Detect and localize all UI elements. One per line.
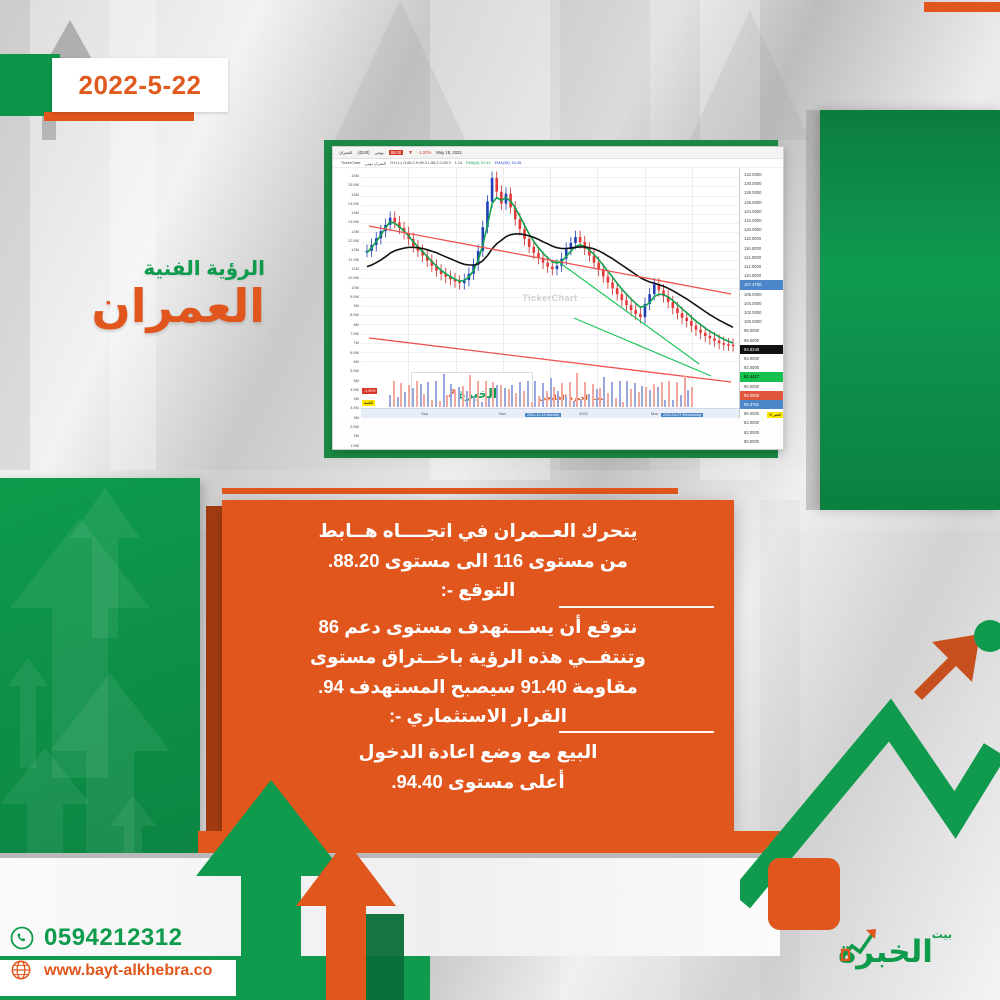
volume-bar — [687, 390, 689, 407]
volume-bar — [454, 390, 456, 407]
price-axis-label: 122.0000 — [740, 216, 783, 225]
chart-source: TickerChart — [341, 161, 360, 165]
candle-body — [491, 178, 494, 202]
volume-bar — [481, 402, 483, 407]
volume-axis-label: 6M — [353, 357, 359, 366]
price-axis-label: 102.0000 — [740, 308, 783, 317]
volume-bar — [557, 391, 559, 407]
volume-axis-label: 13.5M — [348, 217, 359, 226]
date-tick: Mar — [651, 411, 658, 416]
volume-axis-label: 1.5M — [350, 441, 359, 450]
volume-bar — [607, 393, 609, 407]
volume-bar — [584, 382, 586, 407]
volume-axis-label: 15M — [351, 190, 359, 199]
candle-body — [625, 300, 628, 305]
volume-bar — [615, 398, 617, 407]
brand-growth-icon — [840, 926, 880, 967]
volume-bar — [400, 383, 402, 407]
candle-body — [519, 219, 522, 229]
decor-big-orange-arrow — [296, 840, 396, 1000]
downtrend-line-bottom — [574, 318, 711, 376]
volume-bar — [649, 390, 651, 407]
decision-heading: القرار الاستثماري -: — [242, 702, 714, 730]
candle-body — [528, 239, 531, 247]
volume-axis-label: 2M — [353, 431, 359, 440]
candle-body — [607, 276, 610, 282]
price-axis-label: 107.4700 — [740, 280, 783, 289]
forecast-heading: التوقع -: — [242, 576, 714, 604]
chart-timeframe: يومي — [375, 150, 384, 155]
candle-body — [699, 330, 702, 333]
volume-axis-label: 15.5M — [348, 180, 359, 189]
volume-bar — [519, 382, 521, 407]
volume-axis-label: 10.5M — [348, 273, 359, 282]
candle-body — [722, 343, 725, 345]
candle-body — [676, 308, 679, 313]
price-axis-label: 128.0000 — [740, 188, 783, 197]
chart-date-strip: Sep Nov 2022 Mar 2021-12-13 Monday 2022-… — [361, 408, 739, 418]
volume-bar — [553, 387, 555, 407]
volume-bar — [626, 381, 628, 407]
volume-bar — [450, 384, 452, 407]
volume-bar — [653, 384, 655, 407]
volume-bar — [389, 395, 391, 407]
price-axis-label: 120.0000 — [740, 225, 783, 234]
volume-bar — [676, 382, 678, 407]
volume-axis-label: 13M — [351, 227, 359, 236]
volume-axis-label: 5.5M — [350, 366, 359, 375]
volume-bar — [638, 392, 640, 407]
volume-bar — [473, 397, 475, 407]
price-axis-label: 126.0000 — [740, 198, 783, 207]
brand-logo: الخبرة بيت — [838, 916, 988, 986]
chart-plot-wrapper: 16M15.5M15M14.5M14M13.5M13M12.5M12M11.5M… — [333, 168, 783, 418]
candle-body — [532, 247, 535, 253]
volume-bar — [527, 381, 529, 407]
decision-separator — [559, 731, 714, 733]
volume-bar — [492, 382, 494, 407]
volume-bar — [672, 400, 674, 407]
volume-bar — [523, 391, 525, 407]
volume-axis-label: 3M — [353, 413, 359, 422]
phone-number: 0594212312 — [44, 924, 182, 952]
volume-bar — [573, 401, 575, 407]
volume-bar — [611, 382, 613, 407]
price-axis-label: 82.0000 — [740, 428, 783, 437]
volume-axis-label: 2.5M — [350, 422, 359, 431]
volume-axis-label: 6.5M — [350, 348, 359, 357]
headline-block: الرؤية الفنية العمران — [65, 258, 265, 330]
volume-bar — [462, 386, 464, 407]
volume-bar — [680, 395, 682, 407]
volume-bar — [664, 400, 666, 407]
candle-body — [685, 318, 688, 321]
chart-extra: 1.14 — [455, 161, 462, 165]
volume-bar — [603, 377, 605, 407]
volume-bar — [619, 381, 621, 407]
volume-bar — [485, 381, 487, 407]
volume-bar — [645, 387, 647, 407]
volume-bar — [634, 383, 636, 407]
candle-body — [500, 192, 503, 204]
volume-bar — [550, 378, 552, 407]
chart-change-pct: -1.00% — [418, 150, 431, 155]
volume-bar — [420, 384, 422, 407]
volume-bar — [404, 392, 406, 407]
volume-bar — [542, 383, 544, 407]
volume-axis-label: 8M — [353, 320, 359, 329]
volume-axis-label: 5M — [353, 376, 359, 385]
volume-axis-label: 14.5M — [348, 199, 359, 208]
chart-price-axis: 132.0000130.0000128.0000126.0000124.0000… — [739, 168, 783, 418]
volume-bar — [508, 389, 510, 407]
volume-bar — [423, 394, 425, 407]
volume-axis-label: 10M — [351, 283, 359, 292]
price-axis-label: 124.0000 — [740, 207, 783, 216]
volume-bar — [534, 381, 536, 407]
website-url: www.bayt-alkhebra.co — [44, 962, 212, 980]
chart-date: May 18, 2022 — [436, 150, 461, 155]
volume-bar — [408, 385, 410, 407]
date-tick: Nov — [499, 411, 506, 416]
candle-body — [634, 310, 637, 314]
decor-arrow — [70, 488, 140, 638]
forecast-separator — [559, 606, 714, 608]
volume-bar — [538, 396, 540, 407]
volume-bar — [668, 381, 670, 407]
panel-top-rule — [222, 488, 678, 494]
price-axis-label: 89.0000 — [740, 391, 783, 400]
candle-body — [393, 218, 396, 223]
volume-axis-label: 4M — [353, 394, 359, 403]
price-axis-label: 88.3751 — [740, 400, 783, 409]
price-axis-label: 104.0000 — [740, 299, 783, 308]
candle-body — [621, 294, 624, 300]
forecast-line-3: مقاومة 91.40 سيصبح المستهدف 94. — [242, 672, 714, 702]
candle-body — [732, 345, 735, 347]
price-axis-label: 110.0000 — [740, 271, 783, 280]
candle-body — [593, 256, 596, 263]
chart-screenshot: العمران (4240) يومي 88.00 ▼ -1.00% May 1… — [332, 146, 784, 450]
chart-ema-green: EMA(5): 91.44 — [466, 161, 490, 165]
candle-body — [556, 266, 559, 269]
volume-bar — [565, 396, 567, 407]
volume-bar — [500, 385, 502, 407]
orange-arrow-head — [914, 634, 980, 700]
forecast-line-2: وتنتفــي هذه الرؤية باخــتراق مستوى — [242, 642, 714, 672]
trend-dot — [974, 620, 1000, 652]
candle-body — [713, 338, 716, 340]
volume-axis-label: 11M — [352, 264, 359, 273]
volume-bar — [641, 386, 643, 407]
candle-body — [709, 336, 712, 338]
volume-axis-label: 3.5M — [350, 403, 359, 412]
candle-body — [546, 263, 549, 267]
volume-bar — [466, 391, 468, 407]
volume-bar — [393, 381, 395, 407]
analysis-line-2: من مستوى 116 الى مستوى 88.20. — [242, 546, 714, 576]
date-chip: 2021-12-13 Monday — [525, 413, 561, 417]
volume-bar — [576, 373, 578, 407]
bg-triangle — [690, 10, 810, 140]
volume-bar — [477, 381, 479, 407]
decor-grey-strip — [806, 110, 820, 510]
volume-axis-label: 12.5M — [348, 236, 359, 245]
bg-triangle — [330, 0, 470, 150]
volume-bar — [511, 385, 513, 407]
price-axis-label: 96.0000 — [740, 336, 783, 345]
price-axis-label: 106.0000 — [740, 290, 783, 299]
volume-bar — [569, 382, 571, 408]
change-chip: -1.00% — [362, 388, 377, 394]
candle-body — [495, 178, 498, 192]
change-pct-chip: التغير % — [767, 412, 783, 418]
decision-line-1: البيع مع وضع اعادة الدخول — [242, 737, 714, 767]
quantity-chip: الكمية — [362, 400, 375, 406]
date-tick: Sep — [421, 411, 428, 416]
price-axis-label: 91.4417 — [740, 372, 783, 381]
decor-green-panel — [820, 110, 1000, 510]
price-axis-label: 98.0000 — [740, 326, 783, 335]
volume-bar — [416, 381, 418, 407]
volume-bar — [580, 399, 582, 407]
price-axis-label: 116.0000 — [740, 244, 783, 253]
volume-bar — [515, 393, 517, 407]
tickerchart-watermark: TickerChart — [522, 293, 577, 303]
volume-axis-label: 4.5M — [350, 385, 359, 394]
price-axis-label: 118.0000 — [740, 234, 783, 243]
price-axis-label: 94.8240 — [740, 345, 783, 354]
volume-bar — [469, 375, 471, 407]
volume-bar — [684, 376, 686, 407]
candle-body — [574, 237, 577, 243]
date-text: 2022-5-22 — [78, 70, 201, 101]
decor-green-arrow-panel — [0, 478, 200, 898]
chart-series-ar: العمران يومي — [364, 161, 385, 166]
chart-symbol-ar: العمران — [339, 150, 352, 155]
candle-body — [695, 326, 698, 330]
price-axis-label: 84.0000 — [740, 418, 783, 427]
date-card: 2022-5-22 — [52, 58, 228, 112]
volume-bar — [531, 402, 533, 407]
decor-orange-tick — [924, 2, 1000, 12]
resistance-trendline — [369, 226, 731, 294]
headline-subtitle: الرؤية الفنية — [65, 258, 265, 280]
volume-axis-label: 9M — [353, 301, 359, 310]
volume-bar — [657, 387, 659, 407]
volume-bar — [691, 387, 693, 407]
date-underline — [44, 112, 194, 121]
volume-bar — [630, 389, 632, 407]
volume-bar — [458, 387, 460, 407]
whatsapp-icon — [10, 926, 34, 950]
volume-bar — [443, 374, 445, 407]
price-axis-label: 100.0000 — [740, 317, 783, 326]
chart-ema-blue: EMA(38): 94.45 — [495, 161, 522, 165]
chart-last-price: 88.00 — [389, 150, 403, 155]
price-axis-label: 130.0000 — [740, 179, 783, 188]
candle-body — [690, 321, 693, 326]
volume-axis-label: 11.5M — [348, 255, 359, 264]
volume-axis-label: 7M — [353, 338, 359, 347]
volume-bar — [488, 398, 490, 407]
volume-bar — [427, 382, 429, 407]
headline-title: العمران — [65, 282, 265, 330]
chart-symbol-code: (4240) — [357, 150, 369, 155]
volume-bar — [588, 394, 590, 407]
volume-bar — [546, 391, 548, 407]
price-axis-label: 90.0000 — [740, 382, 783, 391]
volume-axis-label: 9.5M — [350, 292, 359, 301]
brand-tiny: بيت — [932, 928, 952, 941]
date-green-tab — [0, 54, 60, 116]
chart-volume-axis: 16M15.5M15M14.5M14M13.5M13M12.5M12M11.5M… — [333, 168, 361, 418]
candle-body — [616, 288, 619, 294]
volume-bar — [661, 382, 663, 407]
price-axis-label: 92.0000 — [740, 363, 783, 372]
volume-bar — [596, 389, 598, 407]
volume-bar — [504, 388, 506, 407]
volume-bar — [496, 385, 498, 407]
volume-axis-label: 16M — [351, 171, 359, 180]
volume-axis-label: 14M — [351, 208, 359, 217]
candle-body — [718, 341, 721, 343]
volume-bar — [439, 401, 441, 407]
chart-plot-area: TickerChart الخبرة↗ بيت الخبرة الخليجي S… — [361, 168, 739, 418]
candle-body — [704, 333, 707, 336]
volume-bar — [412, 388, 414, 407]
chart-topbar: العمران (4240) يومي 88.00 ▼ -1.00% May 1… — [333, 147, 783, 159]
price-axis-label: 80.0000 — [740, 437, 783, 446]
volume-bar — [446, 395, 448, 407]
poster-canvas: 2022-5-22 الرؤية الفنية العمران العمران … — [0, 0, 1000, 1000]
volume-bar — [561, 383, 563, 407]
volume-axis-label: 12M — [351, 245, 359, 254]
volume-bar — [431, 400, 433, 407]
price-axis-label: 94.0000 — [740, 354, 783, 363]
volume-axis-label: 7.5M — [350, 329, 359, 338]
candle-body — [630, 305, 633, 310]
globe-icon — [10, 959, 34, 983]
down-arrow-icon: ▼ — [408, 150, 413, 156]
volume-bar — [622, 402, 624, 407]
price-axis-label: 114.0000 — [740, 253, 783, 262]
date-chip: 2022-04-27 Wednesday — [661, 413, 703, 417]
date-tick: 2022 — [579, 411, 588, 416]
decor-orange-square — [768, 858, 840, 930]
price-axis-label: 132.0000 — [740, 170, 783, 179]
volume-bar — [435, 381, 437, 407]
candle-body — [727, 344, 730, 346]
candle-body — [611, 282, 614, 288]
candle-body — [653, 284, 656, 294]
volume-bar — [599, 388, 601, 407]
candle-body — [579, 237, 582, 242]
volume-bar — [397, 397, 399, 407]
candle-body — [681, 313, 684, 318]
candle-body — [639, 314, 642, 317]
price-axis-label: 112.0000 — [740, 262, 783, 271]
volume-bar — [592, 384, 594, 407]
chart-infobar: TickerChart العمران يومي O:H:L:) O:88.2 … — [333, 159, 783, 168]
volume-axis-label: 8.5M — [350, 310, 359, 319]
analysis-line-1: يتحرك العــمران في اتجــــاه هــابط — [242, 516, 714, 546]
candle-body — [672, 302, 675, 308]
chart-ohlc: O:H:L:) O:88.2 H:89.3 L:88.2 C:89.3 — [390, 161, 451, 165]
forecast-line-1: نتوقع أن يســـتهدف مستوى دعم 86 — [242, 612, 714, 642]
candle-body — [551, 267, 554, 269]
